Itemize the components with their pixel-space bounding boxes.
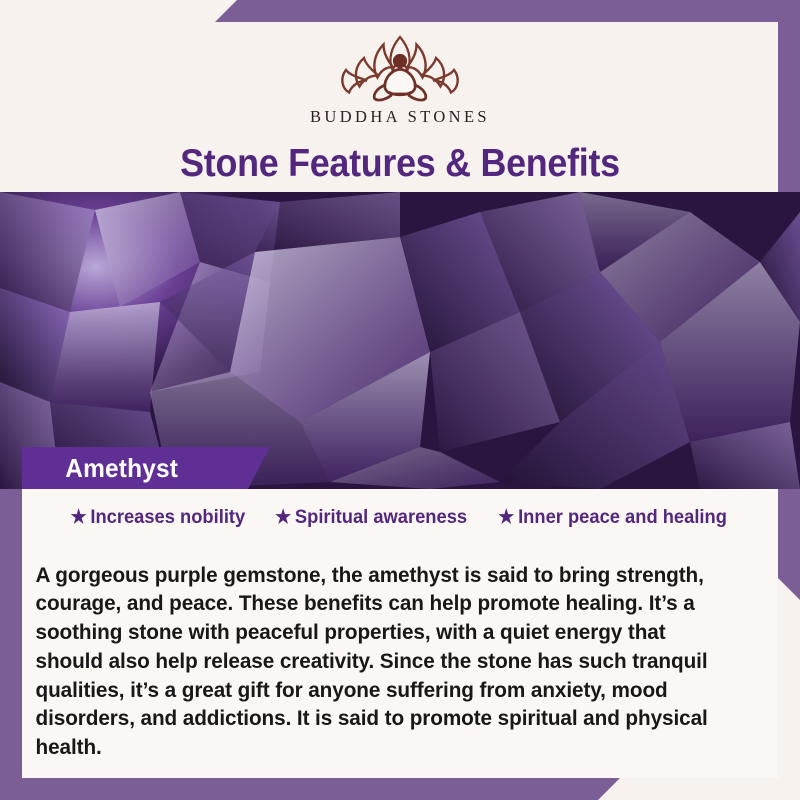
benefit-item-1: ★ Spiritual awareness xyxy=(275,506,467,529)
stone-info-card: BUDDHA STONES Stone Features & Benefits xyxy=(0,0,800,800)
page-title: Stone Features & Benefits xyxy=(180,142,620,186)
benefit-label: Increases nobility xyxy=(91,506,246,529)
benefit-label: Inner peace and healing xyxy=(518,506,727,529)
brand-name: BUDDHA STONES xyxy=(310,107,490,127)
benefit-label: Spiritual awareness xyxy=(295,506,467,529)
brand-header: BUDDHA STONES xyxy=(22,22,778,142)
star-icon: ★ xyxy=(499,508,515,527)
benefit-item-2: ★ Inner peace and healing xyxy=(499,506,728,529)
amethyst-crystal-cluster-image: Amethyst xyxy=(0,192,800,489)
stone-description: A gorgeous purple gemstone, the amethyst… xyxy=(22,555,752,763)
star-icon: ★ xyxy=(275,508,291,527)
stone-name-banner: Amethyst xyxy=(22,447,270,489)
star-icon: ★ xyxy=(71,508,87,527)
benefits-row: ★ Increases nobility ★ Spiritual awarene… xyxy=(22,489,778,533)
lotus-meditation-icon xyxy=(325,28,475,106)
stone-name: Amethyst xyxy=(22,453,178,484)
card-plate: BUDDHA STONES Stone Features & Benefits xyxy=(22,22,778,778)
benefit-item-0: ★ Increases nobility xyxy=(71,506,246,529)
frame-accent-bottom xyxy=(0,778,620,800)
frame-accent-top xyxy=(215,0,800,22)
page-title-bar: Stone Features & Benefits xyxy=(22,142,778,192)
crystal-facets xyxy=(0,192,800,489)
